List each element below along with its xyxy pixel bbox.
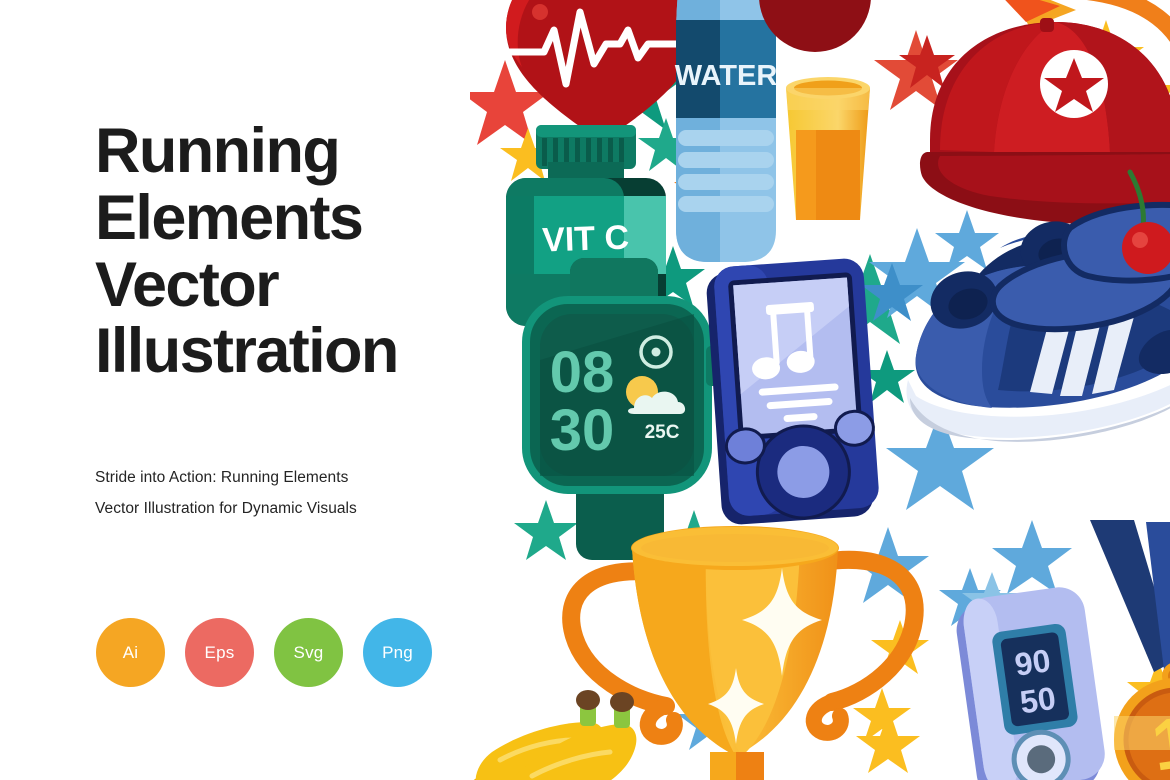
player-button-right [834, 410, 874, 447]
smartwatch-hours: 08 [550, 340, 615, 405]
vitamin-bottle-label: VIT C [542, 219, 630, 260]
running-elements-collage: VIT C WATER [470, 0, 1170, 780]
subtitle-line-1: Stride into Action: Running Elements [95, 462, 455, 493]
heart-with-pulse-icon [504, 0, 698, 142]
smartwatch-minutes: 30 [550, 398, 615, 463]
smartwatch-temperature: 25C [645, 422, 680, 443]
water-bottle-label: WATER [675, 60, 778, 92]
format-badge-eps[interactable]: Eps [185, 618, 254, 687]
star-icon [856, 713, 920, 773]
file-format-badges: Ai Eps Svg Png [96, 618, 432, 687]
title-line-4: Illustration [95, 316, 398, 386]
page-subtitle: Stride into Action: Running Elements Vec… [95, 462, 455, 524]
smartwatch: 08 30 25C [526, 258, 718, 560]
format-badge-png-label: Png [382, 643, 413, 663]
info-panel: Running Elements Vector Illustration Str… [0, 0, 470, 780]
format-badge-svg-label: Svg [294, 643, 324, 663]
player-button-left [725, 428, 765, 465]
music-player [705, 257, 881, 525]
star-icon [514, 500, 578, 560]
water-bottle: WATER [675, 0, 778, 262]
title-line-3: Vector [95, 250, 278, 320]
product-preview-page: Running Elements Vector Illustration Str… [0, 0, 1170, 780]
format-badge-eps-label: Eps [205, 643, 235, 663]
star-icon [935, 210, 999, 270]
format-badge-png[interactable]: Png [363, 618, 432, 687]
title-line-1: Running [95, 116, 339, 186]
page-title: Running Elements Vector Illustration [95, 118, 465, 385]
oximeter-top-value: 90 [1012, 642, 1052, 683]
trophy-handle-right-hook [814, 702, 841, 733]
subtitle-line-2: Vector Illustration for Dynamic Visuals [95, 493, 455, 524]
star-icon [992, 520, 1072, 594]
trophy-handle-left-hook [648, 706, 675, 737]
juice-glass [786, 77, 870, 220]
format-badge-ai-label: Ai [123, 643, 139, 663]
pulse-oximeter: 90 50 [952, 584, 1109, 780]
format-badge-svg[interactable]: Svg [274, 618, 343, 687]
baseball-cap [920, 18, 1170, 225]
bananas [470, 690, 636, 780]
illustration-panel: VIT C WATER [470, 0, 1170, 780]
format-badge-ai[interactable]: Ai [96, 618, 165, 687]
oximeter-bottom-value: 50 [1018, 680, 1058, 721]
title-line-2: Elements [95, 183, 362, 253]
